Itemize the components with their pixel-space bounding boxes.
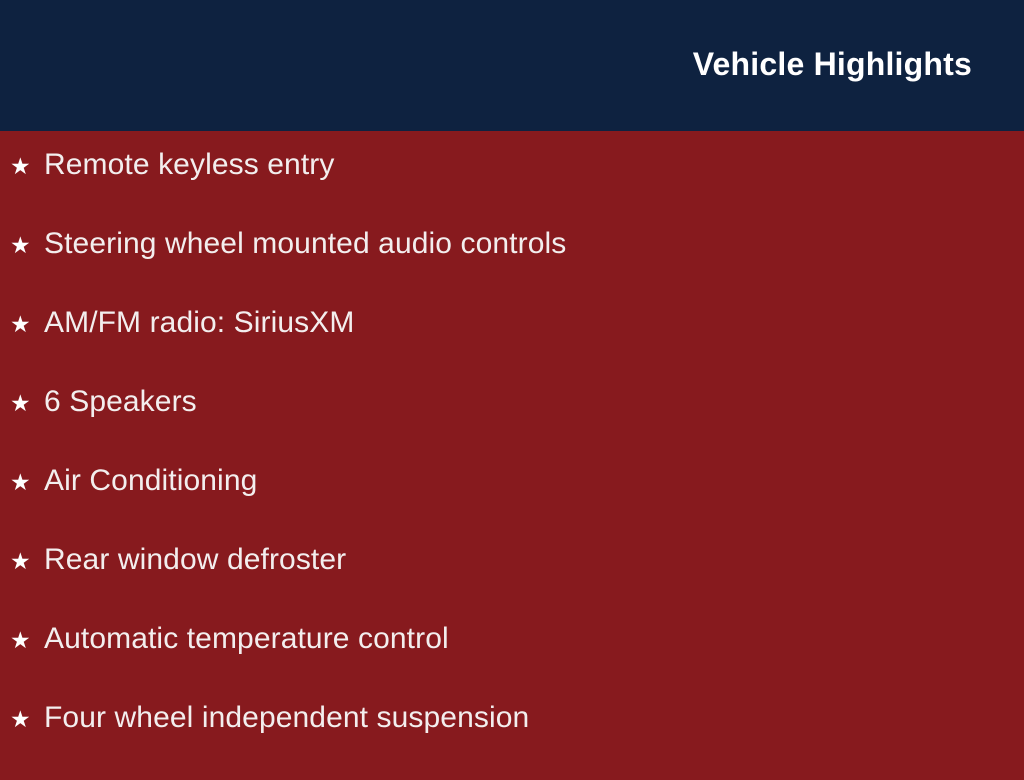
- list-item-label: Steering wheel mounted audio controls: [44, 227, 566, 261]
- list-item: ★ Air Conditioning: [0, 464, 1024, 543]
- star-bullet-icon: ★: [10, 624, 44, 658]
- star-bullet-icon: ★: [10, 545, 44, 579]
- star-bullet-icon: ★: [10, 150, 44, 184]
- list-item-label: AM/FM radio: SiriusXM: [44, 306, 354, 340]
- page-title: Vehicle Highlights: [693, 44, 972, 84]
- vehicle-highlights-list: ★ Remote keyless entry ★ Steering wheel …: [0, 148, 1024, 780]
- star-bullet-icon: ★: [10, 466, 44, 500]
- list-item-label: Four wheel independent suspension: [44, 701, 529, 735]
- star-bullet-icon: ★: [10, 308, 44, 342]
- list-item-label: 6 Speakers: [44, 385, 197, 419]
- star-bullet-icon: ★: [10, 229, 44, 263]
- star-bullet-icon: ★: [10, 703, 44, 737]
- list-item-label: Rear window defroster: [44, 543, 346, 577]
- list-item: ★ Remote keyless entry: [0, 148, 1024, 227]
- list-item: ★ Steering wheel mounted audio controls: [0, 227, 1024, 306]
- list-item: ★ AM/FM radio: SiriusXM: [0, 306, 1024, 385]
- slide-header-band: Vehicle Highlights: [0, 0, 1024, 131]
- list-item: ★ Automatic temperature control: [0, 622, 1024, 701]
- list-item-label: Automatic temperature control: [44, 622, 449, 656]
- slide-body: ★ Remote keyless entry ★ Steering wheel …: [0, 131, 1024, 768]
- list-item-label: Air Conditioning: [44, 464, 257, 498]
- star-bullet-icon: ★: [10, 387, 44, 421]
- list-item: ★ 6 Speakers: [0, 385, 1024, 464]
- list-item-label: Remote keyless entry: [44, 148, 334, 182]
- list-item: ★ Rear window defroster: [0, 543, 1024, 622]
- slide-root: Vehicle Highlights ★ Remote keyless entr…: [0, 0, 1024, 768]
- list-item: ★ Four wheel independent suspension: [0, 701, 1024, 780]
